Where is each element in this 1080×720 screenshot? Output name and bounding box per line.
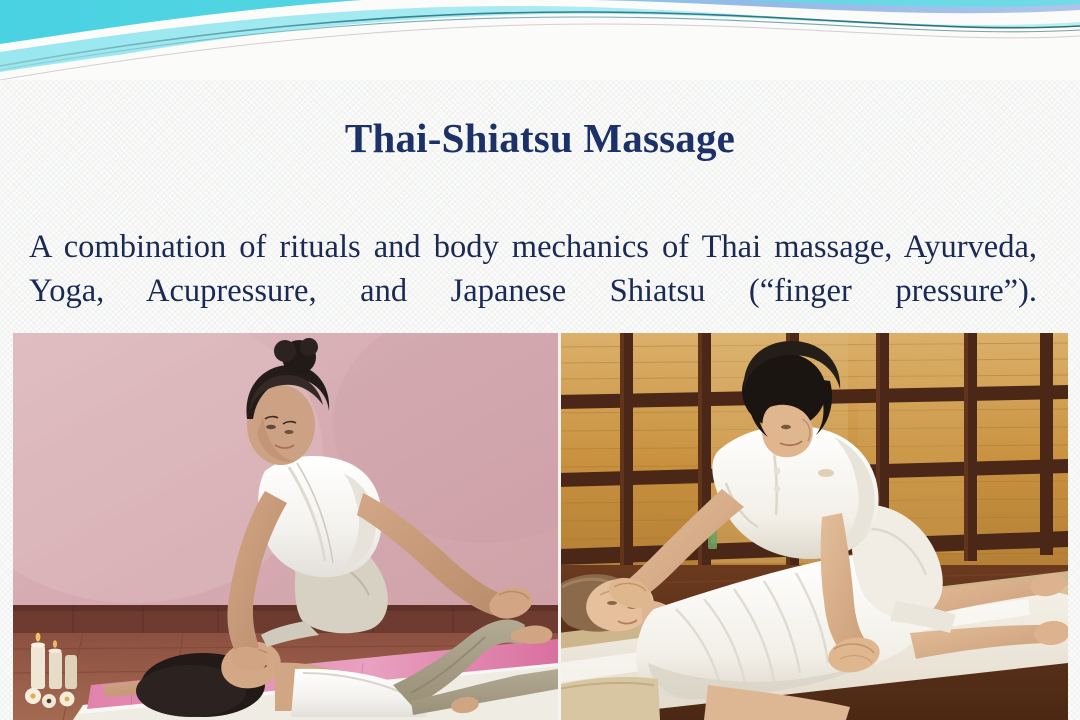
- slide-title: Thai-Shiatsu Massage: [0, 115, 1080, 162]
- presentation-slide: Thai-Shiatsu Massage A combination of ri…: [0, 0, 1080, 720]
- thai-massage-illustration: [13, 333, 558, 720]
- shiatsu-massage-illustration: [558, 333, 1068, 720]
- thai-massage-photo: [13, 333, 558, 720]
- photo-divider: [558, 333, 561, 720]
- header-wave-banner: [0, 0, 1080, 80]
- photo-strip: [13, 333, 1068, 720]
- header-wave-graphic: [0, 0, 1080, 80]
- shiatsu-massage-photo: [558, 333, 1068, 720]
